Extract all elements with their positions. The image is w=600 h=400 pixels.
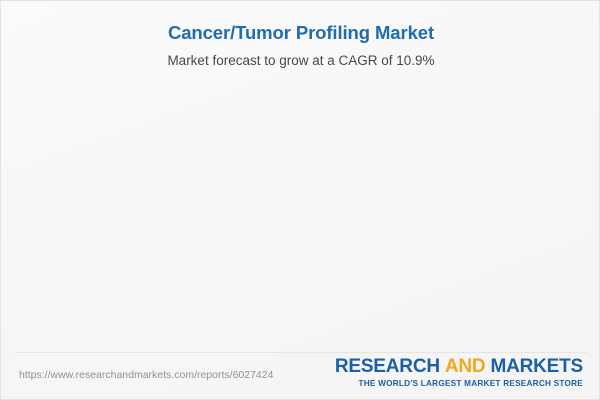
footer-divider bbox=[15, 352, 587, 353]
chart-canvas: Cancer/Tumor Profiling Market Market for… bbox=[0, 0, 600, 400]
logo-word-markets: MARKETS bbox=[490, 356, 583, 377]
plot-area: USD 13.9 billion 2024 USD 40.1 billion bbox=[1, 1, 600, 349]
research-and-markets-logo[interactable]: RESEARCHANDMARKETS THE WORLD'S LARGEST M… bbox=[335, 357, 583, 388]
source-url[interactable]: https://www.researchandmarkets.com/repor… bbox=[19, 369, 273, 381]
logo-word-and: AND bbox=[445, 356, 486, 377]
logo-wordmark: RESEARCHANDMARKETS bbox=[335, 357, 583, 377]
logo-word-research: RESEARCH bbox=[335, 356, 440, 377]
logo-tagline: THE WORLD'S LARGEST MARKET RESEARCH STOR… bbox=[335, 379, 583, 388]
